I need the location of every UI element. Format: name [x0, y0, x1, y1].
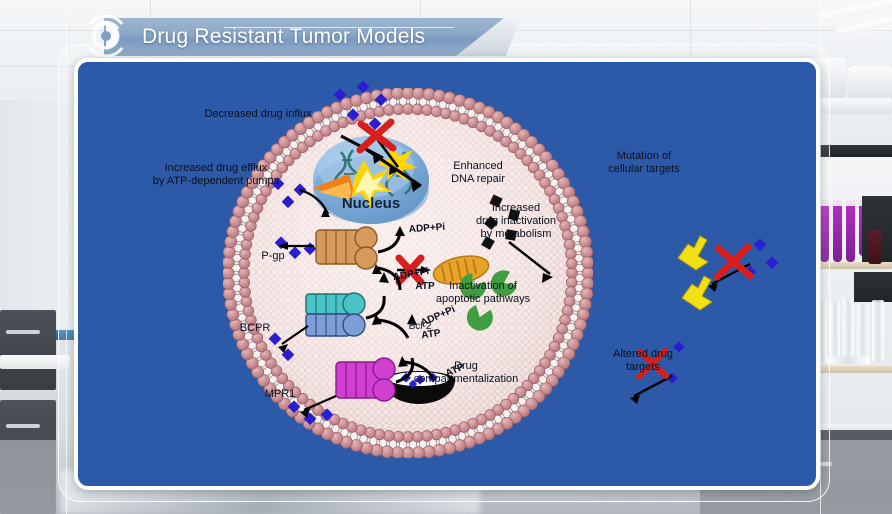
cabinet-handle — [6, 424, 40, 428]
label-mpr1: MPR1 — [248, 388, 312, 401]
efflux-curve — [300, 190, 328, 214]
bcpr-adp-arrow — [366, 296, 384, 318]
mpr1-expelled-drugs — [288, 400, 334, 425]
glass-frame-edge — [820, 0, 821, 514]
glassware — [830, 302, 840, 362]
p-gp-pump — [316, 227, 377, 269]
shelf-backing — [854, 272, 892, 302]
glassware — [857, 304, 869, 362]
cabinet-handle — [6, 330, 40, 334]
reagent-bottle — [868, 230, 882, 264]
test-tube — [846, 206, 855, 262]
page-title: Drug Resistant Tumor Models — [142, 25, 425, 49]
label-enhanced-dna-repair: Enhanced DNA repair — [418, 160, 538, 186]
diagram-overlay — [78, 62, 816, 486]
cabinet — [0, 310, 56, 390]
bcpr-pump — [306, 293, 365, 336]
screenshot-root: Drug Resistant Tumor Models — [0, 0, 892, 514]
glassware — [872, 300, 884, 362]
diagram-canvas: Nucleus — [78, 62, 816, 486]
label-mutation-of-cellular-targets: Mutation of cellular targets — [582, 150, 706, 176]
ceiling-fixture — [848, 66, 892, 102]
glassware — [826, 356, 870, 364]
label-decreased-drug-influx: Decreased drug influx — [168, 108, 348, 121]
label-p-gp-atp: ATP — [408, 280, 442, 293]
test-tube — [833, 206, 842, 262]
metabolism-arrow — [509, 242, 550, 274]
label-altered-drug-targets: Altered drug targets — [588, 348, 698, 374]
content-panel: Nucleus — [74, 58, 820, 490]
swirl-circle-logo-icon — [78, 8, 134, 64]
mutated-receptors — [678, 236, 712, 310]
glassware — [843, 298, 854, 362]
label-bcpr: BCPR — [223, 322, 287, 335]
title-banner: Drug Resistant Tumor Models — [104, 18, 524, 56]
label-p-gp: P-gp — [243, 250, 303, 263]
glass-frame-edge — [66, 0, 67, 514]
label-increased-drug-efflux: Increased drug efflux by ATP-dependent p… — [126, 162, 306, 188]
label-increased-drug-inactivation: Increased drug inactivation by metabolis… — [448, 202, 584, 241]
